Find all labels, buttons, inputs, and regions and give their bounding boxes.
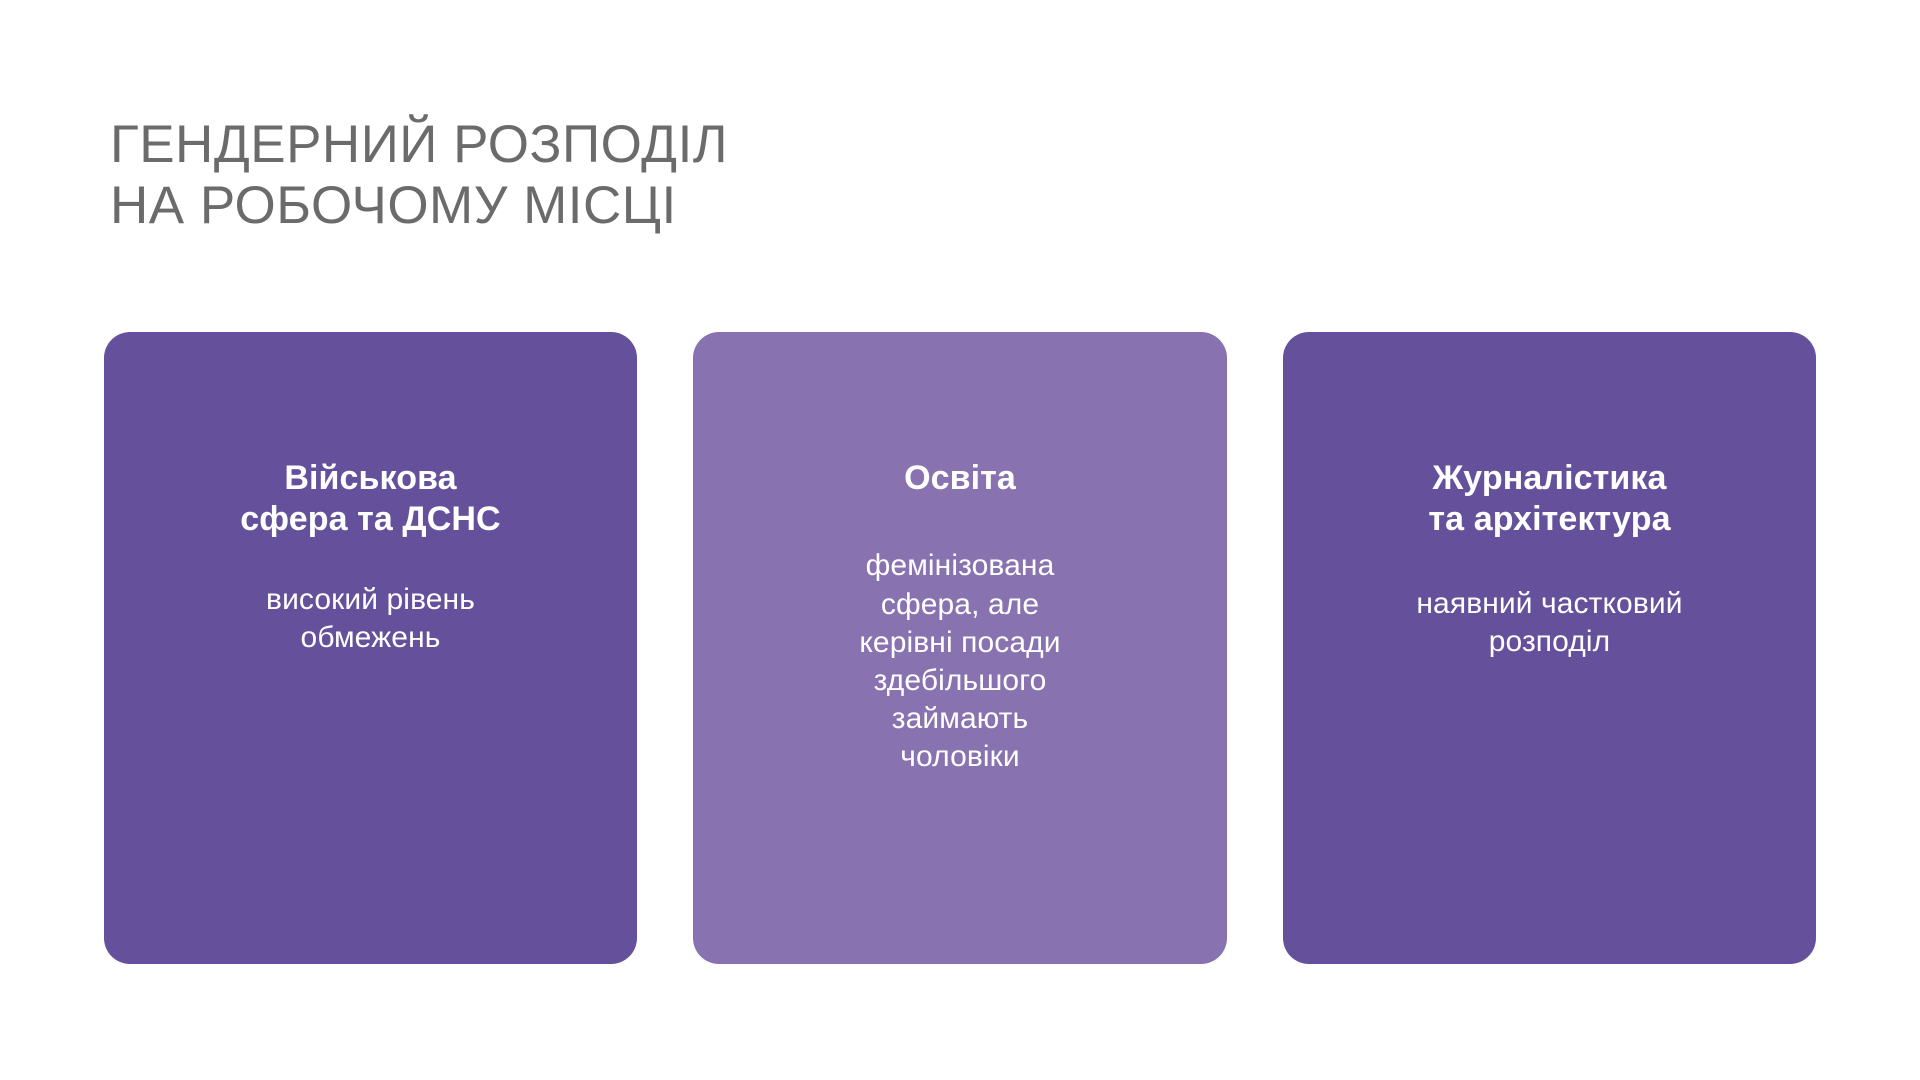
card-education-body: фемінізована сфера, але керівні посади з… [859,547,1060,776]
card-education-title: Освіта [904,458,1016,499]
card-education[interactable]: Освіта фемінізована сфера, але керівні п… [693,332,1227,964]
page-title: ГЕНДЕРНИЙ РОЗПОДІЛ НА РОБОЧОМУ МІСЦІ [110,114,1210,237]
card-military-dsns-title: Військова сфера та ДСНС [240,458,500,541]
cards-row: Військова сфера та ДСНС високий рівень о… [104,332,1816,964]
card-journalism-architecture-title: Журналістика та архітектура [1428,458,1670,541]
card-military-dsns-body: високий рівень обмежень [266,581,475,657]
card-journalism-architecture-body: наявний частковий розподіл [1416,585,1682,661]
slide-canvas: ГЕНДЕРНИЙ РОЗПОДІЛ НА РОБОЧОМУ МІСЦІ Вій… [0,0,1920,1080]
card-journalism-architecture[interactable]: Журналістика та архітектура наявний част… [1283,332,1816,964]
card-military-dsns[interactable]: Військова сфера та ДСНС високий рівень о… [104,332,637,964]
